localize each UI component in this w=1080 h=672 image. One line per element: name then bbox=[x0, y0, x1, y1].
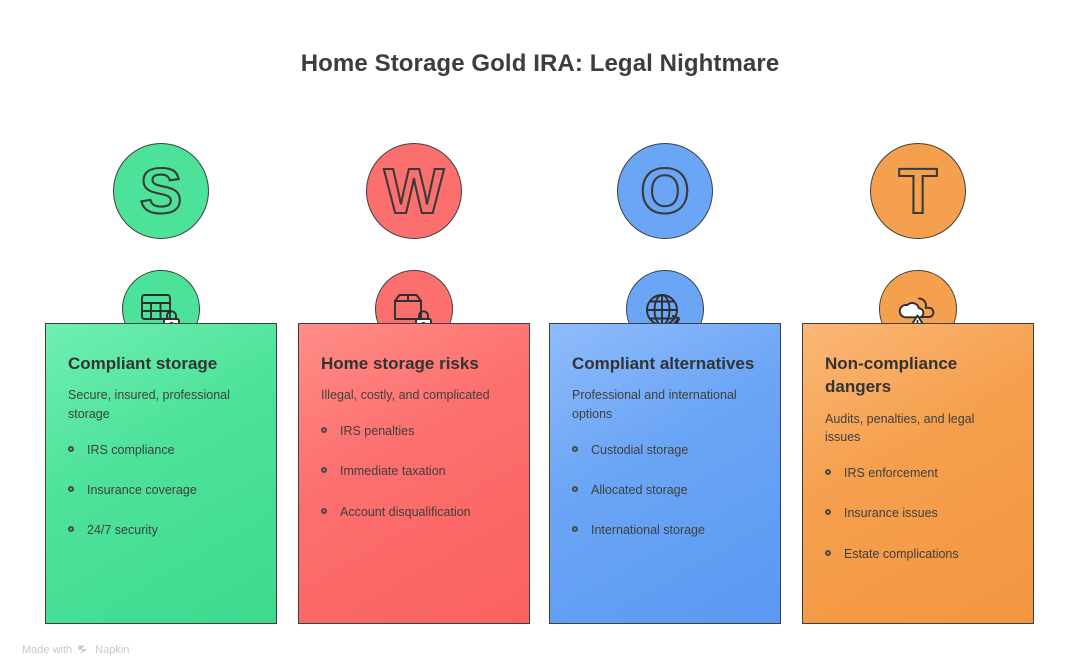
bullet-marker-icon bbox=[68, 486, 74, 492]
list-item-label: IRS enforcement bbox=[844, 466, 938, 480]
card-home-storage-risks[interactable]: Home storage risks Illegal, costly, and … bbox=[298, 323, 530, 624]
list-item: Account disqualification bbox=[321, 504, 509, 520]
card-compliant-storage[interactable]: Compliant storage Secure, insured, profe… bbox=[45, 323, 277, 624]
list-item-label: Allocated storage bbox=[591, 483, 688, 497]
list-item: International storage bbox=[572, 522, 760, 538]
letter-circle-o: O bbox=[617, 143, 713, 239]
list-item-label: Insurance issues bbox=[844, 506, 938, 520]
letter-circle-w: W bbox=[366, 143, 462, 239]
napkin-logo-icon bbox=[77, 643, 90, 656]
letter-t-outline-icon: T bbox=[898, 155, 937, 227]
swot-column-strengths: S Compliant storage Secure, insured, pro… bbox=[35, 0, 287, 672]
watermark-brand: Napkin bbox=[95, 644, 129, 656]
bullet-marker-icon bbox=[321, 427, 327, 433]
list-item: Immediate taxation bbox=[321, 463, 509, 479]
card-bullet-list: IRS enforcement Insurance issues Estate … bbox=[825, 465, 1013, 562]
watermark-prefix: Made with bbox=[22, 644, 72, 656]
list-item-label: Custodial storage bbox=[591, 443, 688, 457]
card-title: Compliant storage bbox=[68, 352, 256, 375]
list-item-label: Immediate taxation bbox=[340, 464, 446, 478]
swot-column-weaknesses: W Home storage risks Illegal, costly, an… bbox=[288, 0, 540, 672]
list-item-label: Insurance coverage bbox=[87, 483, 197, 497]
letter-circle-s: S bbox=[113, 143, 209, 239]
card-title: Non-compliance dangers bbox=[825, 352, 1013, 399]
card-subtitle: Secure, insured, professional storage bbox=[68, 386, 256, 424]
card-bullet-list: IRS compliance Insurance coverage 24/7 s… bbox=[68, 442, 256, 539]
list-item-label: 24/7 security bbox=[87, 523, 158, 537]
list-item: IRS compliance bbox=[68, 442, 256, 458]
letter-o-outline-icon: O bbox=[640, 155, 690, 227]
letter-s-outline-icon: S bbox=[140, 155, 183, 227]
letter-circle-t: T bbox=[870, 143, 966, 239]
bullet-marker-icon bbox=[68, 446, 74, 452]
bullet-marker-icon bbox=[825, 509, 831, 515]
bullet-marker-icon bbox=[321, 508, 327, 514]
letter-w-outline-icon: W bbox=[384, 155, 445, 227]
list-item: IRS penalties bbox=[321, 423, 509, 439]
list-item-label: Estate complications bbox=[844, 547, 959, 561]
bullet-marker-icon bbox=[572, 446, 578, 452]
swot-column-opportunities: O Compliant alternatives Professional an… bbox=[539, 0, 791, 672]
list-item: Custodial storage bbox=[572, 442, 760, 458]
list-item-label: International storage bbox=[591, 523, 705, 537]
card-bullet-list: Custodial storage Allocated storage Inte… bbox=[572, 442, 760, 539]
list-item-label: Account disqualification bbox=[340, 505, 471, 519]
card-non-compliance-dangers[interactable]: Non-compliance dangers Audits, penalties… bbox=[802, 323, 1034, 624]
bullet-marker-icon bbox=[321, 467, 327, 473]
swot-column-threats: T Non-compliance dangers Audits, penalti… bbox=[792, 0, 1044, 672]
swot-columns: S Compliant storage Secure, insured, pro… bbox=[0, 0, 1080, 672]
card-subtitle: Professional and international options bbox=[572, 386, 760, 424]
bullet-marker-icon bbox=[825, 469, 831, 475]
bullet-marker-icon bbox=[68, 526, 74, 532]
bullet-marker-icon bbox=[572, 526, 578, 532]
list-item: Insurance coverage bbox=[68, 482, 256, 498]
card-compliant-alternatives[interactable]: Compliant alternatives Professional and … bbox=[549, 323, 781, 624]
bullet-marker-icon bbox=[825, 550, 831, 556]
card-title: Compliant alternatives bbox=[572, 352, 760, 375]
card-subtitle: Audits, penalties, and legal issues bbox=[825, 410, 1013, 448]
list-item-label: IRS penalties bbox=[340, 424, 414, 438]
list-item: Allocated storage bbox=[572, 482, 760, 498]
napkin-watermark: Made with Napkin bbox=[22, 643, 129, 656]
list-item: Insurance issues bbox=[825, 505, 1013, 521]
list-item: Estate complications bbox=[825, 546, 1013, 562]
card-title: Home storage risks bbox=[321, 352, 509, 375]
list-item-label: IRS compliance bbox=[87, 443, 175, 457]
card-bullet-list: IRS penalties Immediate taxation Account… bbox=[321, 423, 509, 520]
list-item: 24/7 security bbox=[68, 522, 256, 538]
card-subtitle: Illegal, costly, and complicated bbox=[321, 386, 509, 405]
list-item: IRS enforcement bbox=[825, 465, 1013, 481]
bullet-marker-icon bbox=[572, 486, 578, 492]
